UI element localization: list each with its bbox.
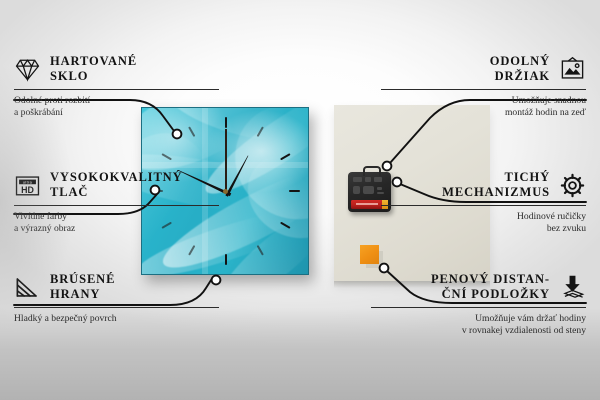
clock-second-hand bbox=[225, 129, 227, 191]
feature-silent-mechanism: TICHÝ MECHANIZMUS Hodinové ručičky bez z… bbox=[381, 170, 586, 235]
feature-head: HARTOVANÉ SKLO bbox=[14, 54, 219, 84]
feature-head: BRÚSENÉ HRANY bbox=[14, 272, 219, 302]
feature-desc: Umožňuje snadnou montáž hodin na zeď bbox=[381, 95, 586, 119]
feature-desc: Umožňuje vám držať hodiny v rovnakej vzd… bbox=[371, 313, 586, 337]
feature-desc: Odolné proti rozbití a poškrábání bbox=[14, 95, 219, 119]
divider bbox=[381, 89, 586, 90]
feature-foam-distance-pads: PENOVÝ DISTAN- ČNÍ PODLOŽKY Umožňuje vám… bbox=[371, 272, 586, 337]
feature-high-quality-print: ultra HD VYSOKOKVALITNÝ TLAČ Vivídne far… bbox=[14, 170, 219, 235]
feature-durable-hanger: ODOLNÝ DRŽIAK Umožňuje snadnou montáž ho… bbox=[381, 54, 586, 119]
feature-title: PENOVÝ DISTAN- ČNÍ PODLOŽKY bbox=[431, 272, 550, 302]
feature-head: ODOLNÝ DRŽIAK bbox=[381, 54, 586, 84]
diamond-icon bbox=[14, 56, 41, 83]
feature-head: ultra HD VYSOKOKVALITNÝ TLAČ bbox=[14, 170, 219, 200]
feature-head: PENOVÝ DISTAN- ČNÍ PODLOŽKY bbox=[371, 272, 586, 302]
feature-desc: Vivídne farby a výrazný obraz bbox=[14, 211, 219, 235]
feature-title: HARTOVANÉ SKLO bbox=[50, 54, 137, 84]
feature-title: TICHÝ MECHANIZMUS bbox=[442, 170, 550, 200]
stacked-arrow-icon bbox=[559, 274, 586, 301]
svg-text:HD: HD bbox=[21, 184, 34, 194]
feature-head: TICHÝ MECHANIZMUS bbox=[381, 170, 586, 200]
clock-hour-hand bbox=[224, 154, 250, 197]
divider bbox=[14, 205, 219, 206]
ground-edges-icon bbox=[14, 274, 41, 301]
ultra-hd-icon: ultra HD bbox=[14, 172, 41, 199]
mechanism-hook bbox=[363, 166, 381, 176]
svg-text:ultra: ultra bbox=[23, 179, 33, 184]
feature-hardened-glass: HARTOVANÉ SKLO Odolné proti rozbití a po… bbox=[14, 54, 219, 119]
feature-title: VYSOKOKVALITNÝ TLAČ bbox=[50, 170, 183, 200]
product-infographic: HARTOVANÉ SKLO Odolné proti rozbití a po… bbox=[0, 0, 600, 400]
feature-title: ODOLNÝ DRŽIAK bbox=[490, 54, 550, 84]
foam-distance-pad bbox=[360, 245, 379, 264]
divider bbox=[371, 307, 586, 308]
divider bbox=[14, 89, 219, 90]
feature-desc: Hodinové ručičky bez zvuku bbox=[381, 211, 586, 235]
gear-icon bbox=[559, 172, 586, 199]
picture-hanger-icon bbox=[559, 56, 586, 83]
feature-polished-edges: BRÚSENÉ HRANY Hladký a bezpečný povrch bbox=[14, 272, 219, 325]
divider bbox=[14, 307, 219, 308]
feature-title: BRÚSENÉ HRANY bbox=[50, 272, 115, 302]
clock-center-cap bbox=[223, 189, 228, 194]
feature-desc: Hladký a bezpečný povrch bbox=[14, 313, 219, 325]
divider bbox=[381, 205, 586, 206]
